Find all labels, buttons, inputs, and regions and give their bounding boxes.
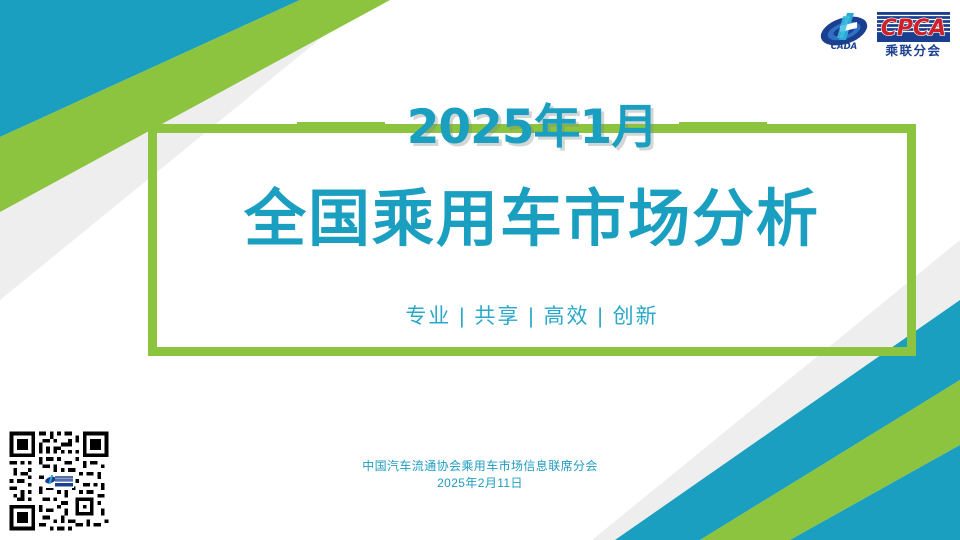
- qr-code[interactable]: [6, 428, 112, 534]
- slide-footer: 中国汽车流通协会乘用车市场信息联席分会 2025年2月11日: [0, 458, 960, 492]
- cpca-chinese-text: 乘联分会: [884, 43, 941, 58]
- cada-emblem-icon: CADA: [818, 11, 871, 52]
- cpca-logo: CADA CPCA 乘联分会: [818, 9, 950, 59]
- slide-canvas: 2025年1月 全国乘用车市场分析 专业 | 共享 | 高效 | 创新 中国汽车…: [0, 0, 960, 540]
- footer-date: 2025年2月11日: [0, 475, 960, 492]
- cada-emblem-text: CADA: [831, 42, 857, 52]
- slide-date-title: 2025年1月: [407, 104, 658, 151]
- slide-subtitle: 专业 | 共享 | 高效 | 创新: [148, 300, 916, 330]
- cpca-wordmark: CPCA 乘联分会: [877, 12, 950, 58]
- cpca-acronym-text: CPCA: [881, 16, 946, 41]
- qr-center-cpca-icon: [44, 474, 74, 488]
- qr-center-logo: [44, 474, 74, 488]
- footer-organization: 中国汽车流通协会乘用车市场信息联席分会: [0, 458, 960, 475]
- left-dash-rule: [297, 122, 385, 133]
- date-title-row: 2025年1月: [148, 94, 916, 160]
- right-dash-rule: [679, 122, 767, 133]
- slide-main-title: 全国乘用车市场分析: [148, 185, 916, 253]
